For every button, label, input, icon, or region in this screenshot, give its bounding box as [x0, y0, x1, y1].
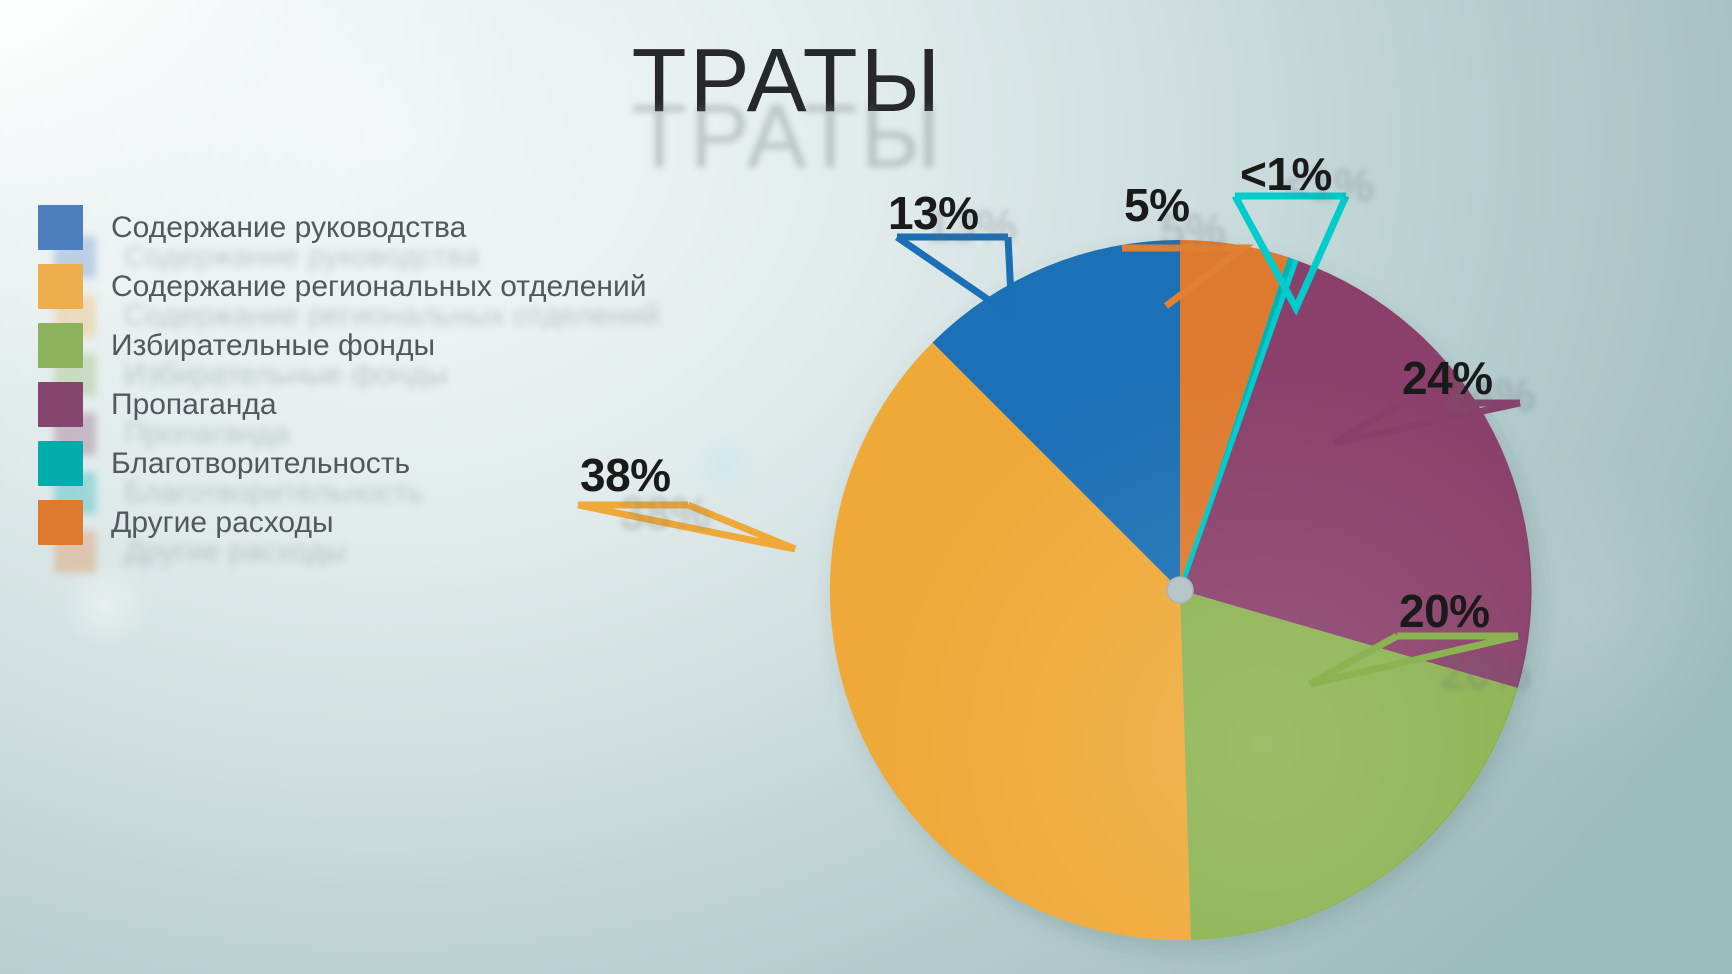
pie-slice-soderzhanie-rukovodstva[interactable]: [933, 240, 1181, 590]
pie-slice-blagotvoritelnost-edge: [1180, 260, 1296, 590]
page-title: ТРАТЫ ТРАТЫ: [0, 34, 1575, 129]
legend-swatch-icon: [38, 264, 83, 309]
legend-item-drugie-rashody[interactable]: Другие расходы Другие расходы: [38, 493, 878, 552]
pie-slice-blagotvoritelnost[interactable]: [1180, 257, 1299, 590]
legend-swatch-icon: [38, 205, 83, 250]
pie-center-hub: [1167, 577, 1193, 603]
pct-label-24: 24%: [1402, 355, 1493, 401]
legend-label: Содержание региональных отделений: [111, 270, 647, 304]
pct-label-lt1: <1%: [1240, 151, 1332, 197]
legend-item-izbiratelnye-fondy[interactable]: Избирательные фонды Избирательные фонды: [38, 316, 878, 375]
legend-item-propaganda[interactable]: Пропаганда Пропаганда: [38, 375, 878, 434]
legend-swatch-icon: [38, 441, 83, 486]
legend-label: Другие расходы: [111, 506, 334, 540]
slide-canvas: ТРАТЫ ТРАТЫ Содержание руководства Содер…: [0, 0, 1732, 974]
pie-slice-drugie-rashody[interactable]: [1180, 240, 1288, 590]
leader-line-5: [1122, 248, 1243, 306]
legend-label: Избирательные фонды: [111, 329, 435, 363]
pct-label-20: 20%: [1399, 588, 1490, 634]
legend-swatch-icon: [38, 382, 83, 427]
pie-slice-soderzhanie-regionalnyh-otdeleniy[interactable]: [830, 343, 1191, 941]
pct-label-13: 13%: [888, 190, 979, 236]
decorative-flare: [60, 560, 150, 650]
legend-label: Пропаганда: [111, 388, 277, 422]
decorative-flare: [1240, 690, 1370, 820]
leader-line-20: [1310, 636, 1518, 684]
leader-line-lt1: [1235, 196, 1346, 308]
pct-label-20-ghost: 20%: [1440, 650, 1531, 696]
decorative-flare: [1360, 700, 1420, 760]
legend-swatch-icon: [38, 500, 83, 545]
pct-label-38: 38%: [580, 452, 671, 498]
pct-label-5: 5%: [1124, 182, 1189, 228]
legend-item-blagotvoritelnost[interactable]: Благотворительность Благотворительность: [38, 434, 878, 493]
page-title-text: ТРАТЫ: [0, 34, 1575, 129]
pie-slice-izbiratelnye-fondy[interactable]: [1180, 590, 1518, 940]
legend-label: Благотворительность: [111, 447, 410, 481]
legend-label: Содержание руководства: [111, 211, 466, 245]
legend-item-soderzhanie-regionalnyh-otdeleniy[interactable]: Содержание региональных отделений Содерж…: [38, 257, 878, 316]
legend-item-soderzhanie-rukovodstva[interactable]: Содержание руководства Содержание руково…: [38, 198, 878, 257]
legend-swatch-icon: [38, 323, 83, 368]
leader-line-24: [1334, 403, 1520, 443]
chart-legend: Содержание руководства Содержание руково…: [38, 198, 878, 552]
leader-line-13: [897, 237, 1012, 316]
